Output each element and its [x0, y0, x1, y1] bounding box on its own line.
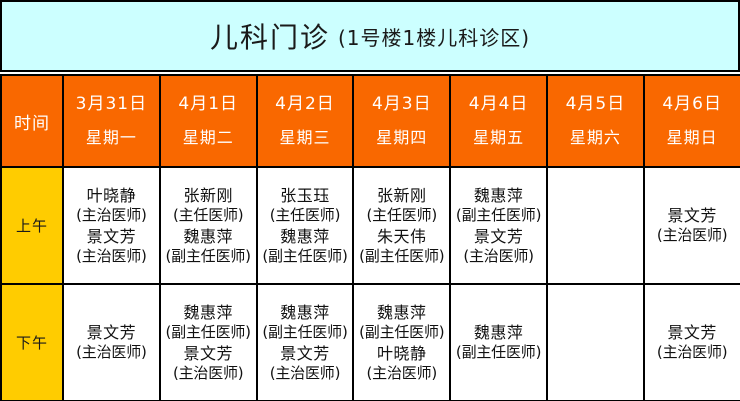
day-header-weekday: 星期五: [451, 130, 546, 147]
schedule-cell[interactable]: 景文芳(主治医师): [644, 284, 740, 401]
schedule-cell[interactable]: 景文芳(主治医师): [644, 167, 740, 284]
day-header-weekday: 星期二: [161, 130, 256, 147]
doctor-title: (主任医师): [354, 206, 449, 226]
doctor-entry: 魏惠萍(副主任医师): [161, 302, 256, 343]
doctor-title: (副主任医师): [354, 247, 449, 267]
doctor-title: (副主任医师): [451, 343, 546, 363]
doctor-entry: 景文芳(主治医师): [258, 343, 353, 384]
doctor-title: (副主任医师): [258, 247, 353, 267]
board-title-band: 儿科门诊 (1号楼1楼儿科诊区): [0, 0, 740, 72]
doctor-title: (主治医师): [354, 364, 449, 384]
doctor-title: (副主任医师): [258, 323, 353, 343]
period-label-afternoon: 下午: [1, 284, 63, 401]
doctor-title: (主治医师): [161, 364, 256, 384]
doctor-entry: 魏惠萍(副主任医师): [161, 226, 256, 267]
day-header-weekday: 星期三: [258, 130, 353, 147]
doctor-title: (主治医师): [64, 247, 159, 267]
schedule-cell[interactable]: 魏惠萍(副主任医师)景文芳(主治医师): [257, 284, 354, 401]
doctor-entry: 叶晓静(主治医师): [64, 185, 159, 226]
schedule-cell[interactable]: 魏惠萍(副主任医师): [450, 284, 547, 401]
doctor-name: 朱天伟: [354, 226, 449, 247]
doctor-entry: 魏惠萍(副主任医师): [451, 185, 546, 226]
period-label-morning: 上午: [1, 167, 63, 284]
doctor-name: 魏惠萍: [451, 322, 546, 343]
doctor-name: 叶晓静: [64, 185, 159, 206]
day-header-2: 4月2日 星期三: [257, 75, 354, 167]
doctor-title: (主治医师): [258, 364, 353, 384]
doctor-entry: 张新刚(主任医师): [354, 185, 449, 226]
day-header-weekday: 星期一: [64, 130, 159, 147]
doctor-title: (主治医师): [64, 343, 159, 363]
day-header-weekday: 星期日: [645, 130, 740, 147]
schedule-cell[interactable]: 张玉珏(主任医师)魏惠萍(副主任医师): [257, 167, 354, 284]
doctor-name: 景文芳: [161, 343, 256, 364]
doctor-name: 魏惠萍: [354, 302, 449, 323]
schedule-cell[interactable]: 魏惠萍(副主任医师)景文芳(主治医师): [450, 167, 547, 284]
day-header-1: 4月1日 星期二: [160, 75, 257, 167]
doctor-name: 魏惠萍: [161, 226, 256, 247]
doctor-title: (主治医师): [64, 206, 159, 226]
day-header-date: 4月2日: [258, 96, 353, 114]
time-column-header: 时间: [1, 75, 63, 167]
doctor-entry: 魏惠萍(副主任医师): [451, 322, 546, 363]
day-header-weekday: 星期四: [354, 130, 449, 147]
doctor-entry: 景文芳(主治医师): [645, 205, 740, 246]
schedule-cell[interactable]: [547, 167, 644, 284]
day-header-date: 4月3日: [354, 96, 449, 114]
day-header-date: 4月6日: [645, 96, 740, 114]
doctor-name: 景文芳: [64, 322, 159, 343]
doctor-name: 魏惠萍: [451, 185, 546, 206]
doctor-entry: 魏惠萍(副主任医师): [258, 302, 353, 343]
day-header-date: 4月4日: [451, 96, 546, 114]
schedule-cell[interactable]: 魏惠萍(副主任医师)景文芳(主治医师): [160, 284, 257, 401]
doctor-name: 景文芳: [64, 226, 159, 247]
doctor-entry: 景文芳(主治医师): [161, 343, 256, 384]
doctor-name: 景文芳: [645, 205, 740, 226]
doctor-entry: 张新刚(主任医师): [161, 185, 256, 226]
doctor-name: 魏惠萍: [161, 302, 256, 323]
day-header-5: 4月5日 星期六: [547, 75, 644, 167]
doctor-name: 张玉珏: [258, 185, 353, 206]
table-row: 下午景文芳(主治医师)魏惠萍(副主任医师)景文芳(主治医师)魏惠萍(副主任医师)…: [1, 284, 740, 401]
doctor-title: (主任医师): [161, 206, 256, 226]
doctor-entry: 景文芳(主治医师): [451, 226, 546, 267]
doctor-title: (主治医师): [645, 226, 740, 246]
schedule-table-body: 上午叶晓静(主治医师)景文芳(主治医师)张新刚(主任医师)魏惠萍(副主任医师)张…: [1, 167, 740, 401]
doctor-entry: 张玉珏(主任医师): [258, 185, 353, 226]
doctor-title: (副主任医师): [451, 206, 546, 226]
schedule-cell[interactable]: 张新刚(主任医师)朱天伟(副主任医师): [353, 167, 450, 284]
day-header-date: 3月31日: [64, 96, 159, 114]
table-row: 上午叶晓静(主治医师)景文芳(主治医师)张新刚(主任医师)魏惠萍(副主任医师)张…: [1, 167, 740, 284]
day-header-0: 3月31日 星期一: [63, 75, 160, 167]
schedule-cell[interactable]: 叶晓静(主治医师)景文芳(主治医师): [63, 167, 160, 284]
day-header-weekday: 星期六: [548, 130, 643, 147]
doctor-name: 景文芳: [451, 226, 546, 247]
clinic-schedule-board: 儿科门诊 (1号楼1楼儿科诊区) 时间 3月31日 星期一 4月1日 星期二 4…: [0, 0, 740, 401]
doctor-title: (副主任医师): [354, 323, 449, 343]
doctor-name: 张新刚: [354, 185, 449, 206]
schedule-cell[interactable]: 张新刚(主任医师)魏惠萍(副主任医师): [160, 167, 257, 284]
doctor-title: (主治医师): [451, 247, 546, 267]
schedule-cell[interactable]: 魏惠萍(副主任医师)叶晓静(主治医师): [353, 284, 450, 401]
doctor-entry: 魏惠萍(副主任医师): [354, 302, 449, 343]
day-header-3: 4月3日 星期四: [353, 75, 450, 167]
doctor-name: 景文芳: [258, 343, 353, 364]
doctor-entry: 景文芳(主治医师): [64, 322, 159, 363]
doctor-title: (副主任医师): [161, 323, 256, 343]
day-header-date: 4月1日: [161, 96, 256, 114]
doctor-title: (副主任医师): [161, 247, 256, 267]
page-title: 儿科门诊: [210, 16, 330, 56]
day-header-6: 4月6日 星期日: [644, 75, 740, 167]
doctor-entry: 魏惠萍(副主任医师): [258, 226, 353, 267]
doctor-name: 景文芳: [645, 322, 740, 343]
doctor-title: (主治医师): [645, 343, 740, 363]
doctor-name: 叶晓静: [354, 343, 449, 364]
table-header-row: 时间 3月31日 星期一 4月1日 星期二 4月2日 星期三 4月3日 星期四: [1, 75, 740, 167]
day-header-4: 4月4日 星期五: [450, 75, 547, 167]
doctor-entry: 朱天伟(副主任医师): [354, 226, 449, 267]
schedule-table-head: 时间 3月31日 星期一 4月1日 星期二 4月2日 星期三 4月3日 星期四: [1, 75, 740, 167]
schedule-cell[interactable]: 景文芳(主治医师): [63, 284, 160, 401]
doctor-entry: 景文芳(主治医师): [64, 226, 159, 267]
doctor-name: 魏惠萍: [258, 302, 353, 323]
page-title-location: (1号楼1楼儿科诊区): [338, 22, 530, 51]
doctor-title: (主任医师): [258, 206, 353, 226]
doctor-name: 魏惠萍: [258, 226, 353, 247]
schedule-table: 时间 3月31日 星期一 4月1日 星期二 4月2日 星期三 4月3日 星期四: [0, 74, 740, 401]
doctor-entry: 叶晓静(主治医师): [354, 343, 449, 384]
schedule-cell[interactable]: [547, 284, 644, 401]
doctor-entry: 景文芳(主治医师): [645, 322, 740, 363]
day-header-date: 4月5日: [548, 96, 643, 114]
doctor-name: 张新刚: [161, 185, 256, 206]
